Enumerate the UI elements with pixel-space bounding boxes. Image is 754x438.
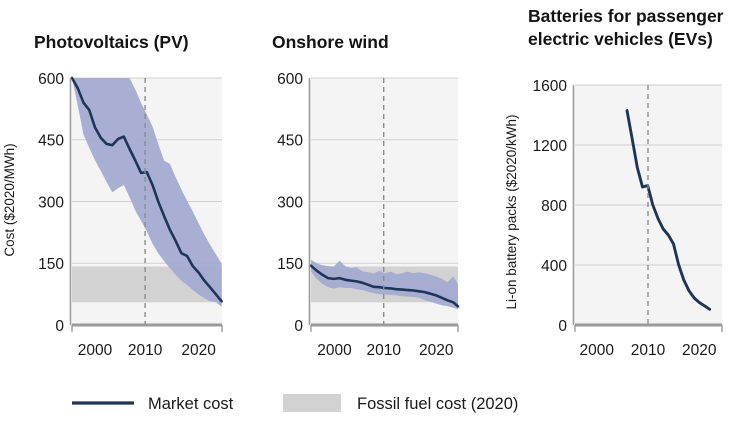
panel-wind-ytick-150: 150 [277,256,303,273]
panel-ev-ytick-0: 0 [558,318,567,335]
panel-ev-ytick-1600: 1600 [533,78,568,95]
panel-wind-ytick-450: 450 [277,133,303,150]
panel-ev-ytick-1200: 1200 [533,138,568,155]
chart-svg: Photovoltaics (PV) Cost ($2020/MWh) 600 [0,0,754,433]
panel-wind-xtick-2020: 2020 [419,342,454,359]
panel-ev-ylabel: Li-on battery packs ($2020/kWh) [504,114,519,309]
panel-pv-ytick-150: 150 [38,256,64,273]
panel-wind: Onshore wind 600 450 300 150 0 2000 2010… [272,32,458,359]
figure-container: Photovoltaics (PV) Cost ($2020/MWh) 600 [0,0,754,433]
panel-wind-title: Onshore wind [272,32,389,52]
panel-pv-xtick-2010: 2010 [128,342,163,359]
panel-ev-ytick-800: 800 [541,198,567,215]
legend-item-market-cost: Market cost [72,395,234,413]
panel-ev-xtick-2010: 2010 [631,342,666,359]
panel-pv-ytick-600: 600 [38,71,64,88]
panel-wind-xtick-2000: 2000 [317,342,352,359]
panel-pv-xtick-2000: 2000 [78,342,113,359]
panel-wind-ytick-600: 600 [277,71,303,88]
legend-item-fossil-fuel: Fossil fuel cost (2020) [283,394,518,413]
panel-wind-ytick-0: 0 [294,318,303,335]
panel-ev-title-line2: electric vehicles (EVs) [528,29,713,49]
legend-label-market-cost: Market cost [148,395,234,413]
panel-wind-xtick-2010: 2010 [366,342,401,359]
panel-wind-ytick-300: 300 [277,195,303,212]
legend: Market cost Fossil fuel cost (2020) [72,394,518,413]
panel-ev-xtick-2000: 2000 [579,342,614,359]
panel-ev-title-line1: Batteries for passenger [528,6,724,26]
panel-ev-ytick-400: 400 [541,258,567,275]
panel-pv-ytick-0: 0 [55,318,64,335]
panel-ev-xtick-2020: 2020 [682,342,717,359]
panel-pv-ytick-450: 450 [38,133,64,150]
legend-box-swatch-icon [283,394,341,412]
panel-pv-xtick-2020: 2020 [181,342,216,359]
panel-ev: Batteries for passenger electric vehicle… [504,6,724,359]
panel-pv-ytick-300: 300 [38,195,64,212]
panel-pv: Photovoltaics (PV) Cost ($2020/MWh) 600 [2,32,222,359]
panel-pv-ylabel: Cost ($2020/MWh) [2,143,17,256]
panel-pv-title: Photovoltaics (PV) [34,32,189,52]
legend-label-fossil-fuel: Fossil fuel cost (2020) [357,395,518,413]
